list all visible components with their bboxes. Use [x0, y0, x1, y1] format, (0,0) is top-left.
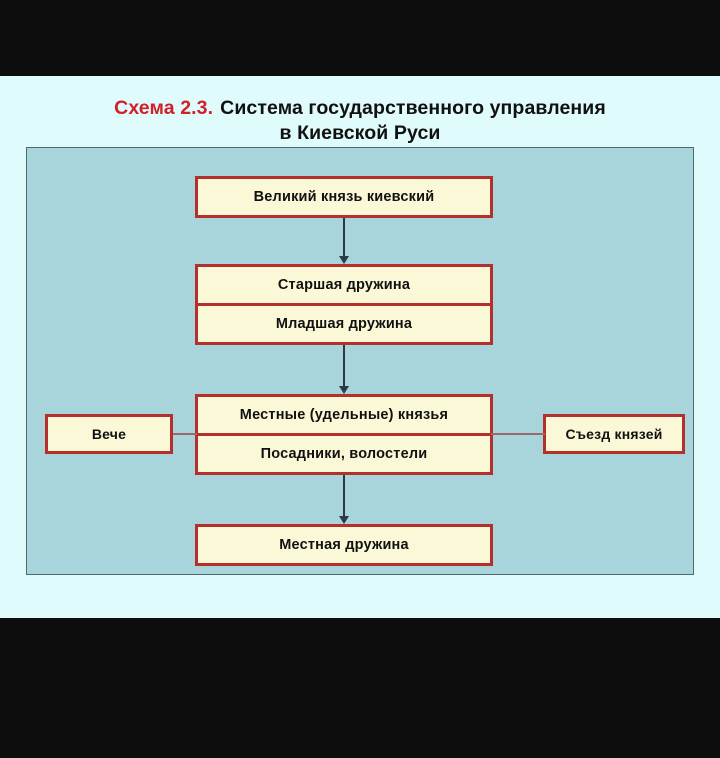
edge-grandprince-seniordruzhina-arrowhead — [339, 256, 349, 264]
node-label: Съезд князей — [565, 426, 662, 442]
slide-canvas: Схема 2.3.Система государственного управ… — [0, 76, 720, 618]
slide-title: Схема 2.3.Система государственного управ… — [0, 96, 720, 146]
node-label: Местные (удельные) князья — [240, 407, 448, 423]
edge-grandprince-seniordruzhina-line — [343, 218, 345, 260]
node-congress[interactable]: Съезд князей — [543, 414, 685, 454]
title-line-2: в Киевской Руси — [279, 122, 440, 144]
node-label: Местная дружина — [279, 537, 409, 553]
node-posadniki[interactable]: Посадники, волостели — [195, 433, 493, 475]
scheme-number: Схема 2.3. — [114, 97, 213, 119]
node-local-princes[interactable]: Местные (удельные) князья — [195, 394, 493, 436]
node-label: Старшая дружина — [278, 277, 410, 293]
edge-congress-localprinces-line — [491, 433, 545, 435]
edge-veche-localprinces-line — [173, 433, 197, 435]
node-veche[interactable]: Вече — [45, 414, 173, 454]
edge-juniordruzhina-localprinces-line — [343, 345, 345, 390]
title-line-1: Система государственного управления — [220, 97, 606, 119]
node-label: Вече — [92, 426, 126, 442]
node-junior-druzhina[interactable]: Младшая дружина — [195, 303, 493, 345]
node-grand-prince[interactable]: Великий князь киевский — [195, 176, 493, 218]
node-label: Посадники, волостели — [261, 446, 428, 462]
edge-posadniki-localdruzhina-arrowhead — [339, 516, 349, 524]
node-label: Великий князь киевский — [254, 189, 435, 205]
edge-juniordruzhina-localprinces-arrowhead — [339, 386, 349, 394]
edge-posadniki-localdruzhina-line — [343, 475, 345, 520]
diagram-panel: Великий князь киевский Старшая дружина М… — [26, 147, 694, 575]
node-label: Младшая дружина — [276, 316, 412, 332]
node-local-druzhina[interactable]: Местная дружина — [195, 524, 493, 566]
node-senior-druzhina[interactable]: Старшая дружина — [195, 264, 493, 306]
